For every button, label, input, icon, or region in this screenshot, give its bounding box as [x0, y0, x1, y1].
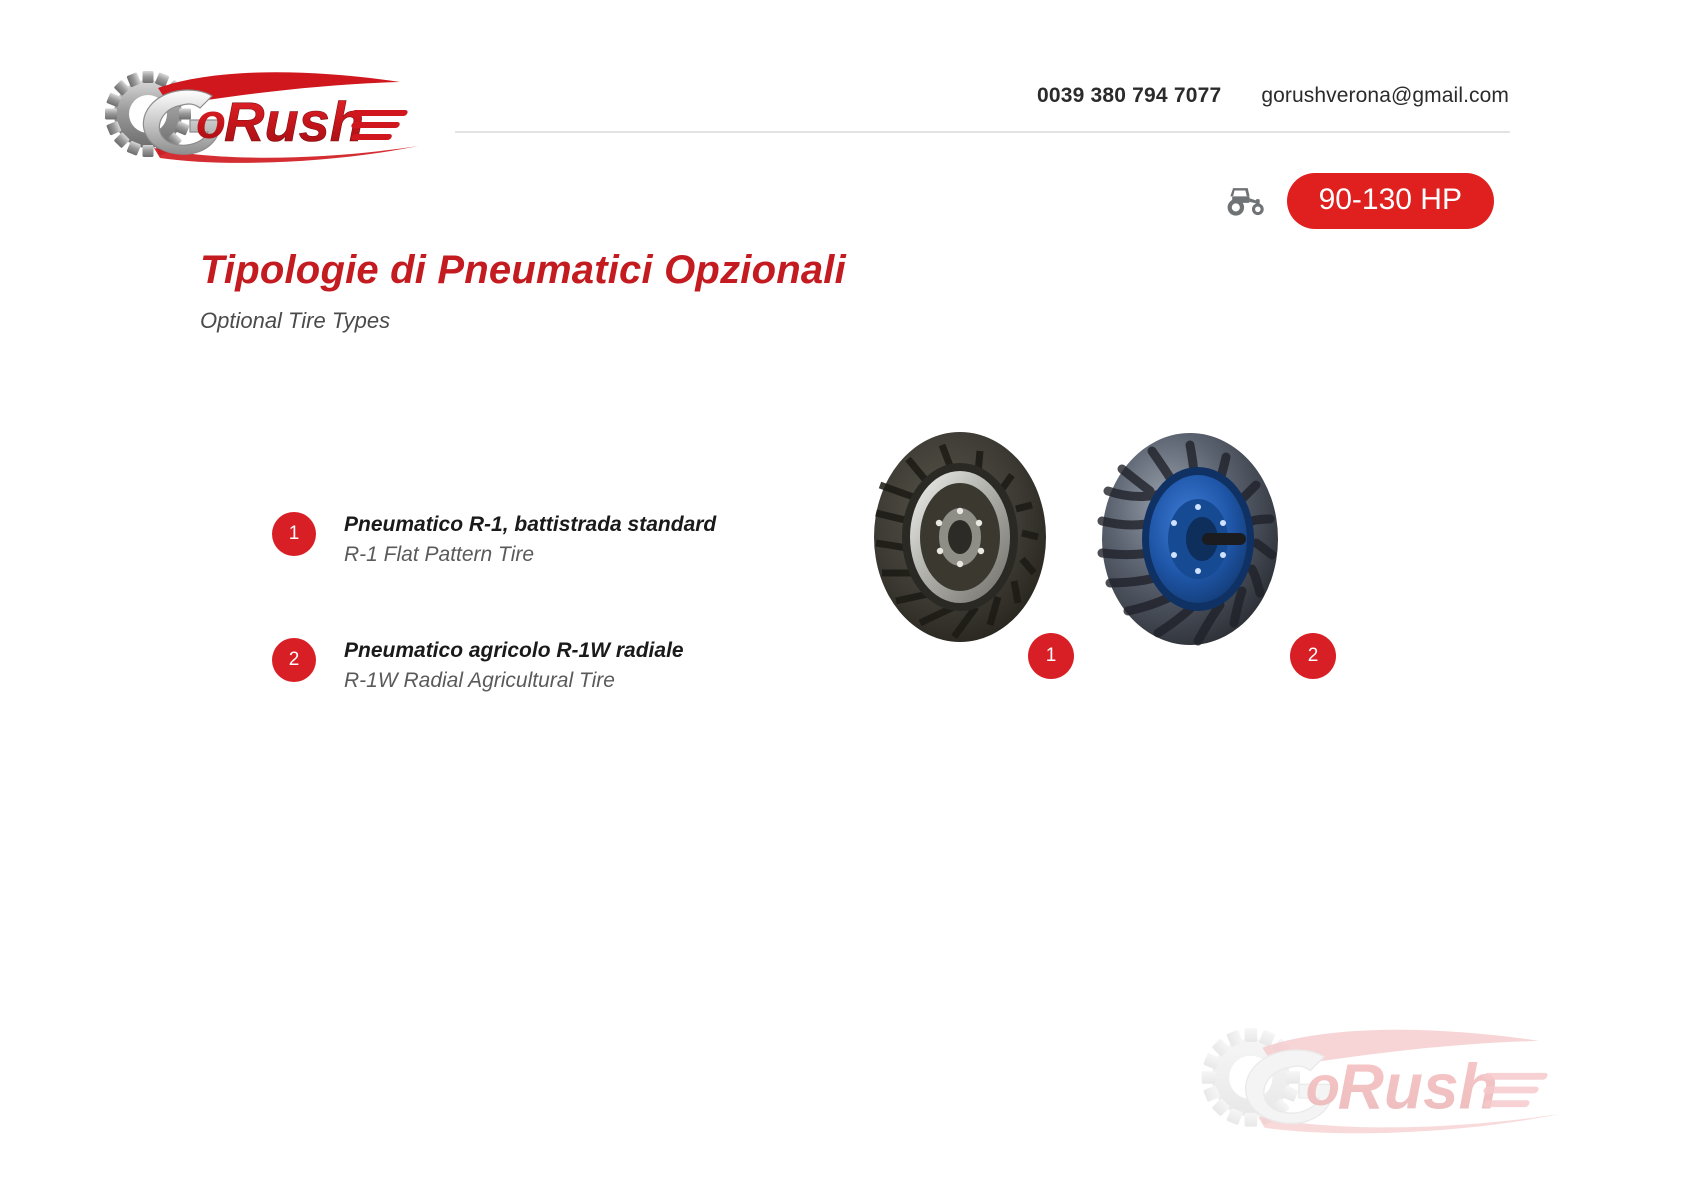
photo-number-badge: 2	[1290, 633, 1336, 679]
slide-page: o Rush 0039 380 794 7077 gorushverona@gm…	[0, 0, 1684, 1190]
list-item-title-it: Pneumatico agricolo R-1W radiale	[344, 638, 684, 664]
list-item-title-en: R-1 Flat Pattern Tire	[344, 541, 716, 569]
list-item-title-en: R-1W Radial Agricultural Tire	[344, 667, 684, 695]
svg-text:Rush: Rush	[224, 90, 364, 153]
list-item-number-badge: 2	[272, 638, 316, 682]
r1w-radial-tire-photo[interactable]	[1090, 427, 1290, 652]
tractor-icon	[1223, 184, 1267, 218]
list-item[interactable]: 1 Pneumatico R-1, battistrada standard R…	[272, 510, 892, 570]
r1-standard-tire-photo[interactable]	[860, 425, 1060, 650]
gorush-logo-graphic: o Rush	[100, 62, 450, 167]
list-item-title-it: Pneumatico R-1, battistrada standard	[344, 512, 716, 538]
header-divider	[455, 131, 1510, 133]
svg-text:o: o	[196, 95, 226, 149]
contact-email[interactable]: gorushverona@gmail.com	[1261, 84, 1509, 108]
photo-number-badge: 1	[1028, 633, 1074, 679]
r1w-tire-graphic	[1090, 427, 1290, 652]
header-contact-info: 0039 380 794 7077 gorushverona@gmail.com	[1037, 84, 1509, 108]
horsepower-badge: 90-130 HP	[1287, 173, 1494, 229]
gorush-watermark-graphic: o Rush	[1186, 1018, 1606, 1138]
contact-phone[interactable]: 0039 380 794 7077	[1037, 84, 1221, 108]
gorush-watermark: o Rush	[1186, 1018, 1606, 1138]
tire-type-list: 1 Pneumatico R-1, battistrada standard R…	[272, 510, 892, 695]
list-item-text: Pneumatico R-1, battistrada standard R-1…	[344, 510, 716, 570]
list-item-number-badge: 1	[272, 512, 316, 556]
svg-text:o: o	[1306, 1054, 1340, 1117]
page-title: Tipologie di Pneumatici Opzionali	[200, 248, 846, 293]
svg-text:Rush: Rush	[1338, 1050, 1498, 1122]
tire-photo-group: 1 2	[860, 425, 1380, 705]
page-subtitle: Optional Tire Types	[200, 308, 390, 334]
horsepower-block: 90-130 HP	[1223, 173, 1494, 229]
page-header: o Rush 0039 380 794 7077 gorushverona@gm…	[0, 0, 1684, 175]
list-item-text: Pneumatico agricolo R-1W radiale R-1W Ra…	[344, 636, 684, 696]
r1-tire-graphic	[860, 425, 1060, 650]
gorush-logo[interactable]: o Rush	[100, 62, 450, 167]
list-item[interactable]: 2 Pneumatico agricolo R-1W radiale R-1W …	[272, 636, 892, 696]
